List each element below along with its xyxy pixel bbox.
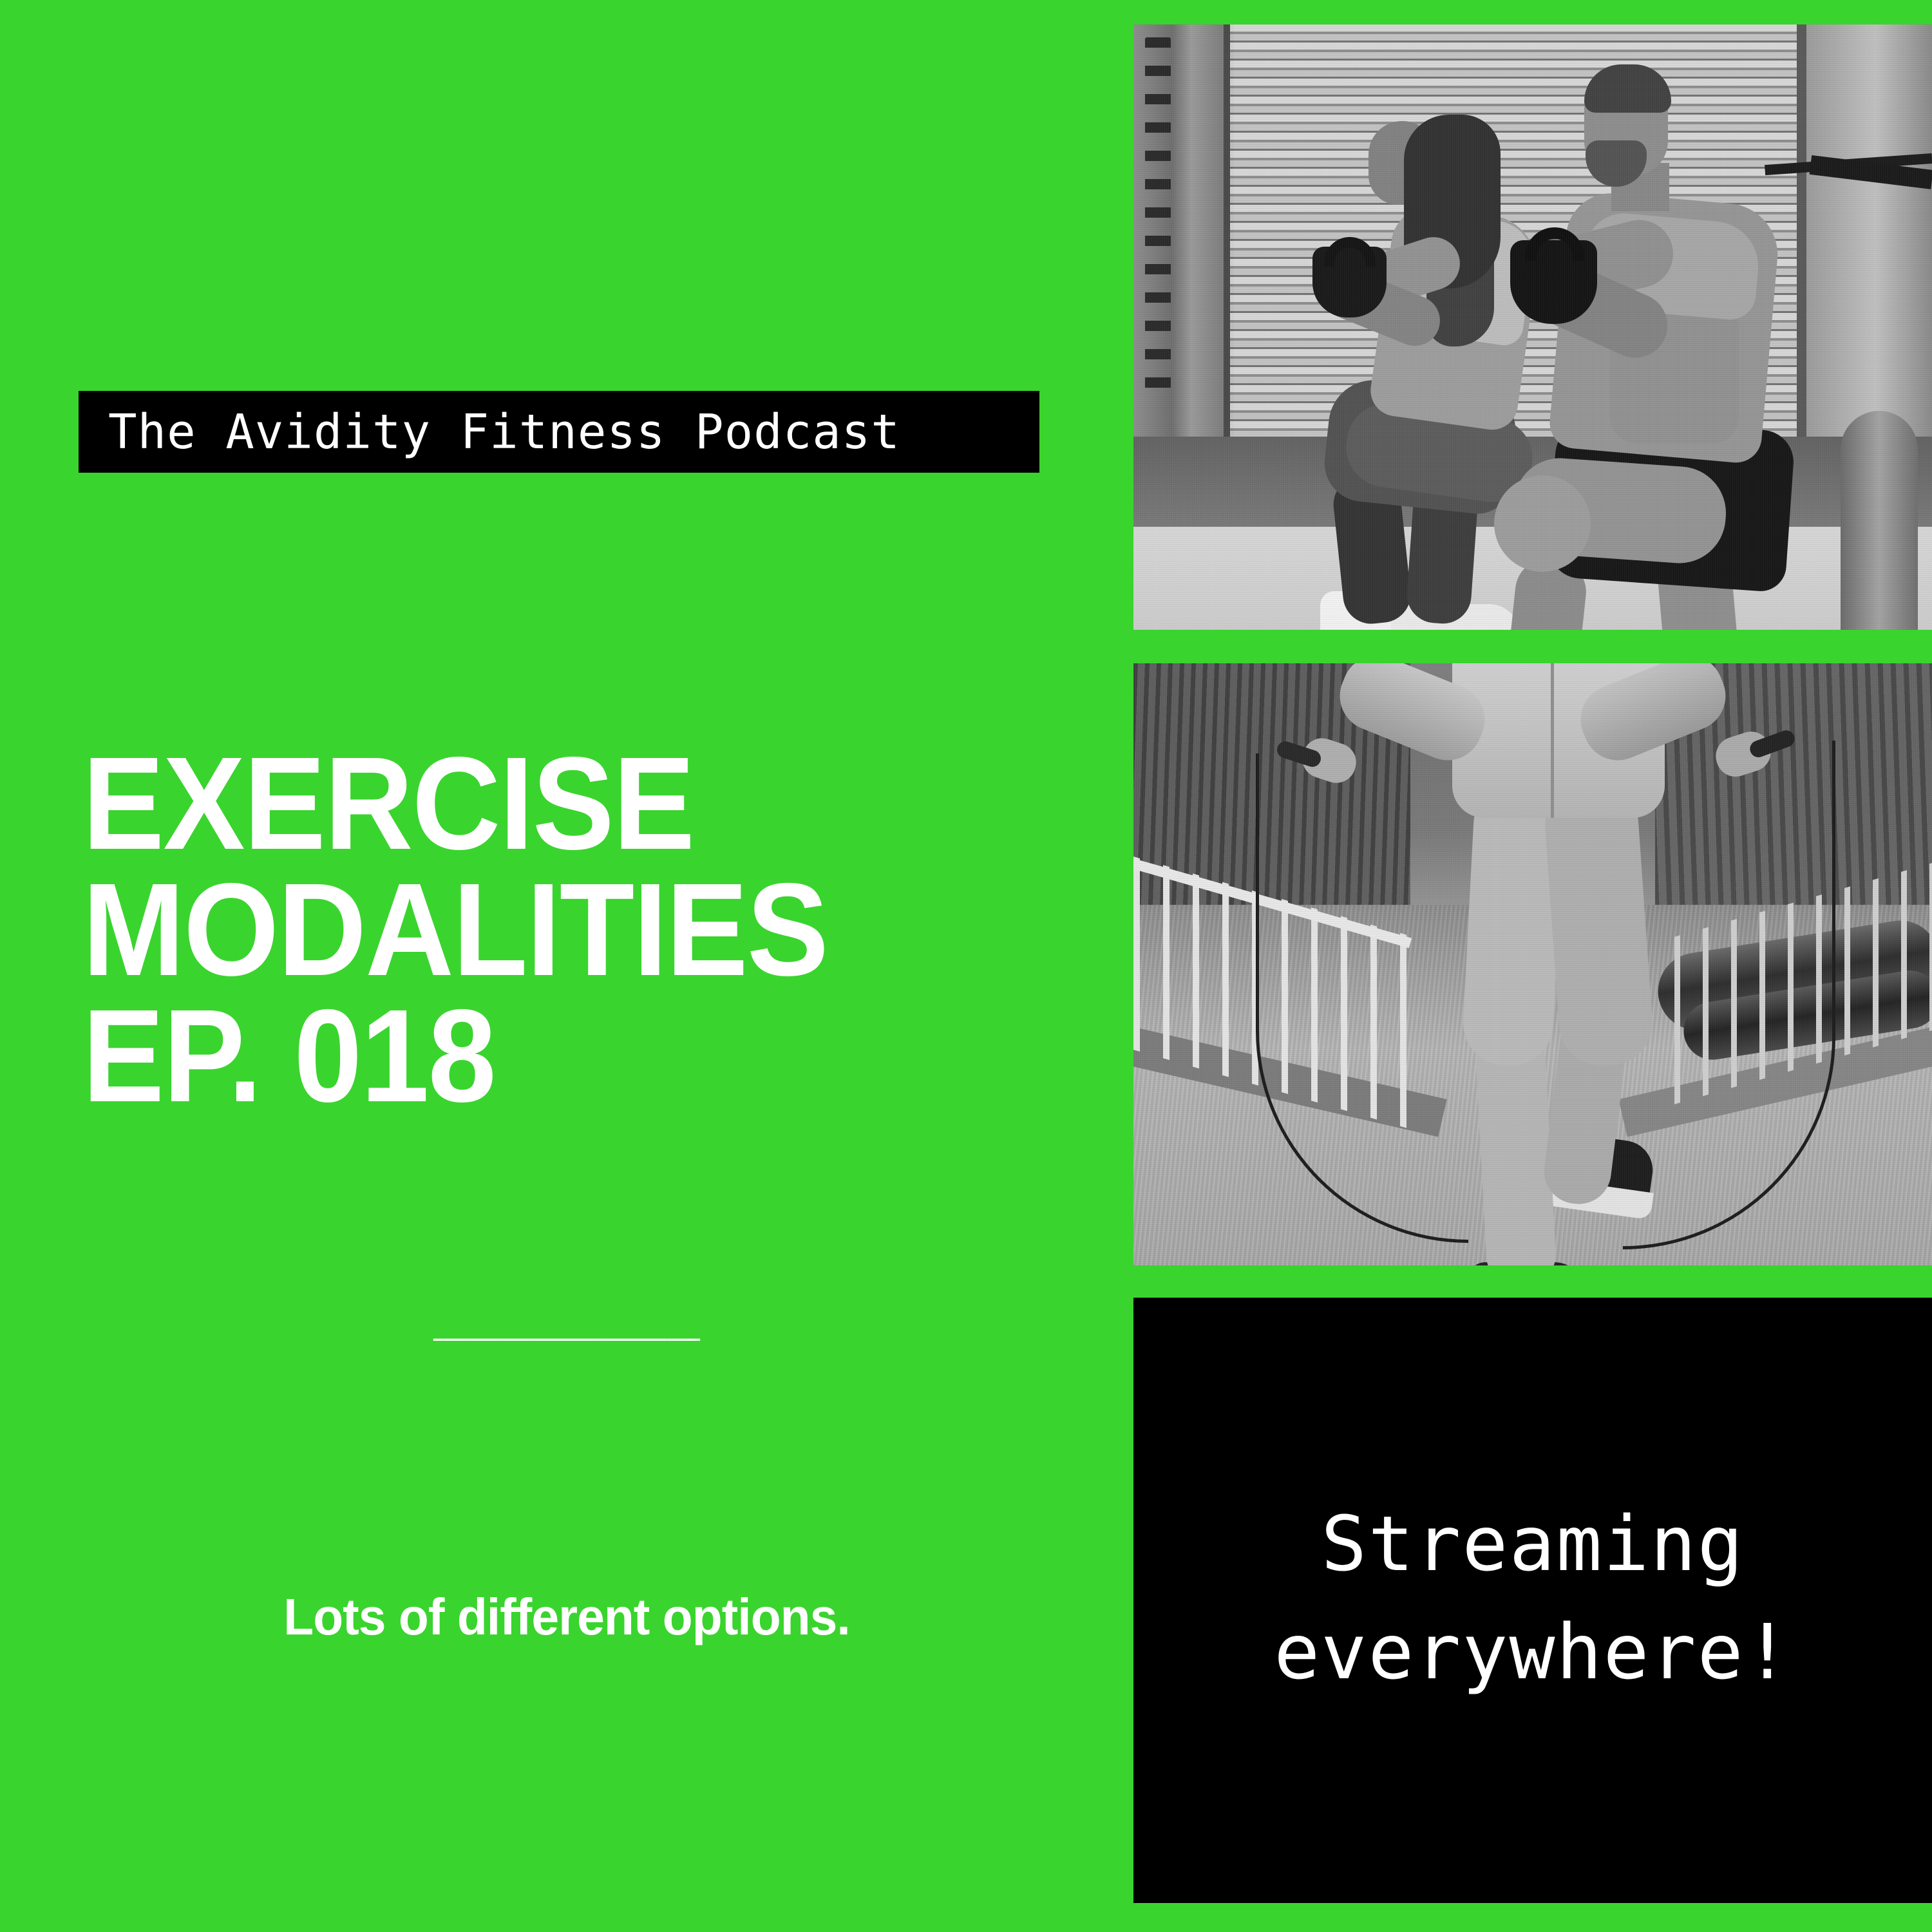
gym-pillar xyxy=(1841,411,1918,630)
episode-title-line-1: EXERCISE xyxy=(82,741,1041,867)
squat-rack-shape xyxy=(1133,24,1230,450)
podcast-name-label: The Avidity Fitness Podcast xyxy=(79,408,900,456)
episode-number-line: EP. 018 xyxy=(82,993,1041,1119)
jumper-thigh-right xyxy=(1542,779,1655,1068)
cover-left-column: The Avidity Fitness Podcast EXERCISE MOD… xyxy=(0,0,1133,1932)
gym-wall-right xyxy=(1806,24,1932,475)
episode-title-line-2: MODALITIES xyxy=(82,867,1041,993)
podcast-title-banner: The Avidity Fitness Podcast xyxy=(79,391,1039,473)
streaming-message: Streaming everywhere! xyxy=(1133,1298,1932,1903)
episode-tagline: Lots of different options. xyxy=(23,1588,1111,1646)
jumper-jacket-seam xyxy=(1551,663,1554,818)
episode-title-block: EXERCISE MODALITIES EP. 018 xyxy=(82,741,1113,1119)
divider-rule: ________ xyxy=(0,1282,1133,1337)
bridge-jumprope-photo xyxy=(1133,663,1932,1265)
streaming-panel: Streaming everywhere! xyxy=(1133,1298,1932,1903)
rack-holes-shape xyxy=(1145,37,1171,398)
photo-panel-kettlebell-squats xyxy=(1133,24,1932,630)
streaming-line-1: Streaming xyxy=(1321,1490,1744,1598)
man-knee xyxy=(1494,475,1591,572)
podcast-cover: The Avidity Fitness Podcast EXERCISE MOD… xyxy=(0,0,1932,1932)
photo-panel-jump-rope xyxy=(1133,663,1932,1265)
gym-squat-photo xyxy=(1133,24,1932,630)
streaming-line-2: everywhere! xyxy=(1274,1598,1791,1706)
